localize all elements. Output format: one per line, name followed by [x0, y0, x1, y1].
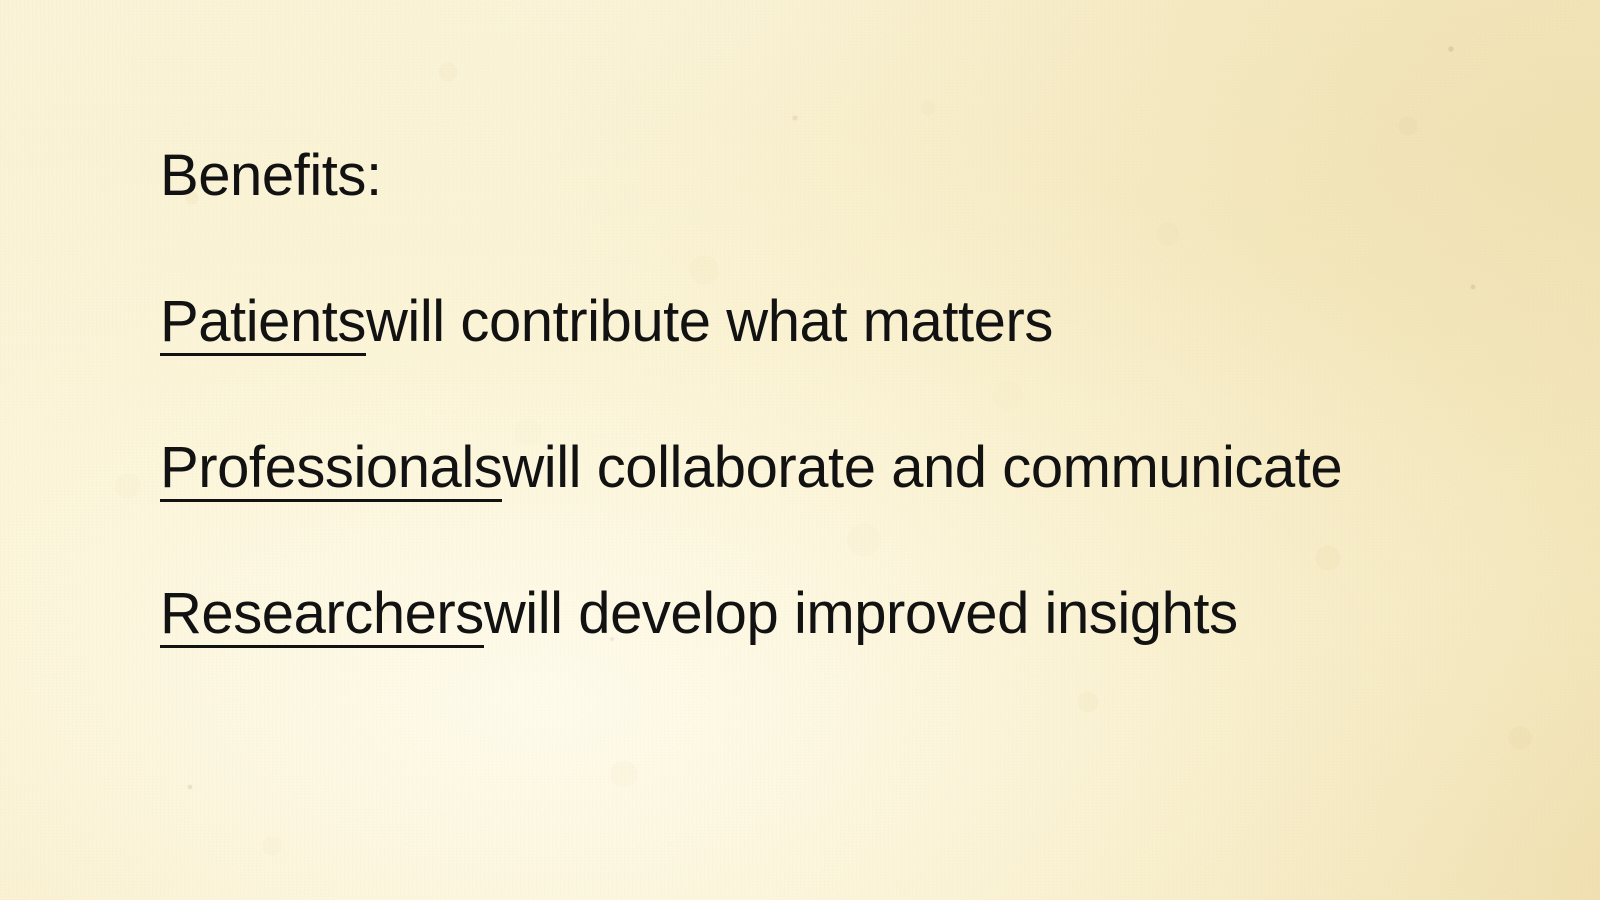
slide-text-block: Benefits: Patients will contribute what … [160, 0, 1560, 900]
slide-line-patients: Patients will contribute what matters [160, 293, 1053, 356]
slide-line-patients-rest: will contribute what matters [366, 293, 1053, 351]
slide-line-patients-lead-word: Patients [160, 293, 366, 356]
slide-line-researchers-rest: will develop improved insights [484, 585, 1238, 643]
slide-line-professionals-lead-word: Professionals [160, 439, 502, 502]
slide-line-professionals: Professionals will collaborate and commu… [160, 439, 1342, 502]
slide-line-professionals-rest: will collaborate and communicate [502, 439, 1342, 497]
slide-line-researchers: Researchers will develop improved insigh… [160, 585, 1238, 648]
slide-canvas: Benefits: Patients will contribute what … [0, 0, 1600, 900]
slide-heading-benefits: Benefits: [160, 147, 382, 205]
slide-line-researchers-lead-word: Researchers [160, 585, 484, 648]
